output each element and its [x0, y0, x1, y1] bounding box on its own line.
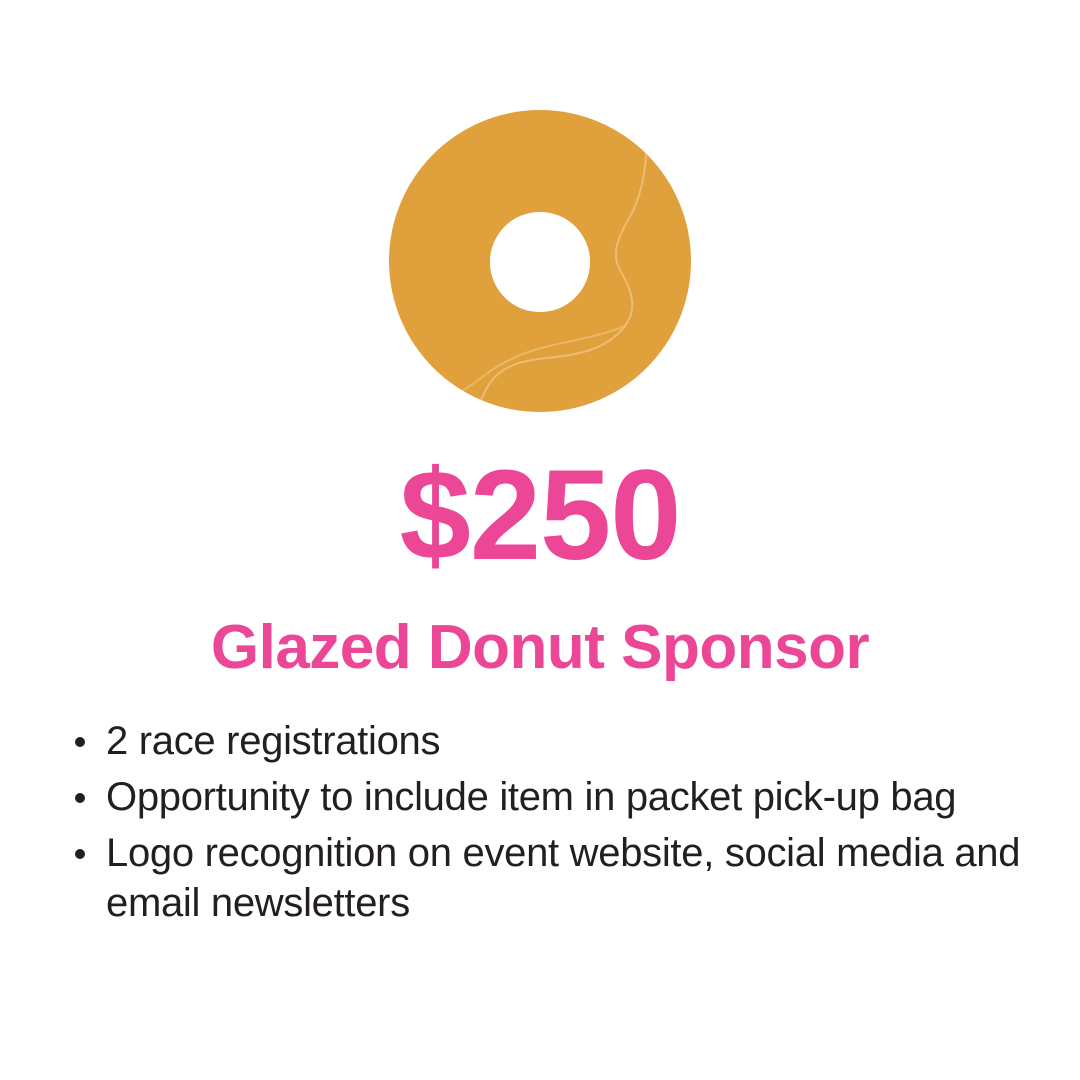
sponsor-tier-card: $250 Glazed Donut Sponsor 2 race registr… [0, 0, 1080, 1080]
price-amount: $250 [0, 452, 1080, 580]
list-item: Logo recognition on event website, socia… [70, 828, 1030, 928]
list-item: 2 race registrations [70, 716, 1030, 766]
bullet-icon [75, 737, 85, 747]
bullet-icon [75, 849, 85, 859]
benefit-text: Opportunity to include item in packet pi… [106, 772, 1030, 822]
benefit-text: Logo recognition on event website, socia… [106, 828, 1030, 928]
donut-hole [490, 212, 590, 312]
sponsor-tier-name: Glazed Donut Sponsor [0, 612, 1080, 684]
donut-illustration [389, 110, 691, 412]
bullet-icon [75, 793, 85, 803]
list-item: Opportunity to include item in packet pi… [70, 772, 1030, 822]
benefits-list: 2 race registrations Opportunity to incl… [70, 716, 1030, 928]
benefit-text: 2 race registrations [106, 716, 1030, 766]
donut-icon [389, 110, 691, 412]
